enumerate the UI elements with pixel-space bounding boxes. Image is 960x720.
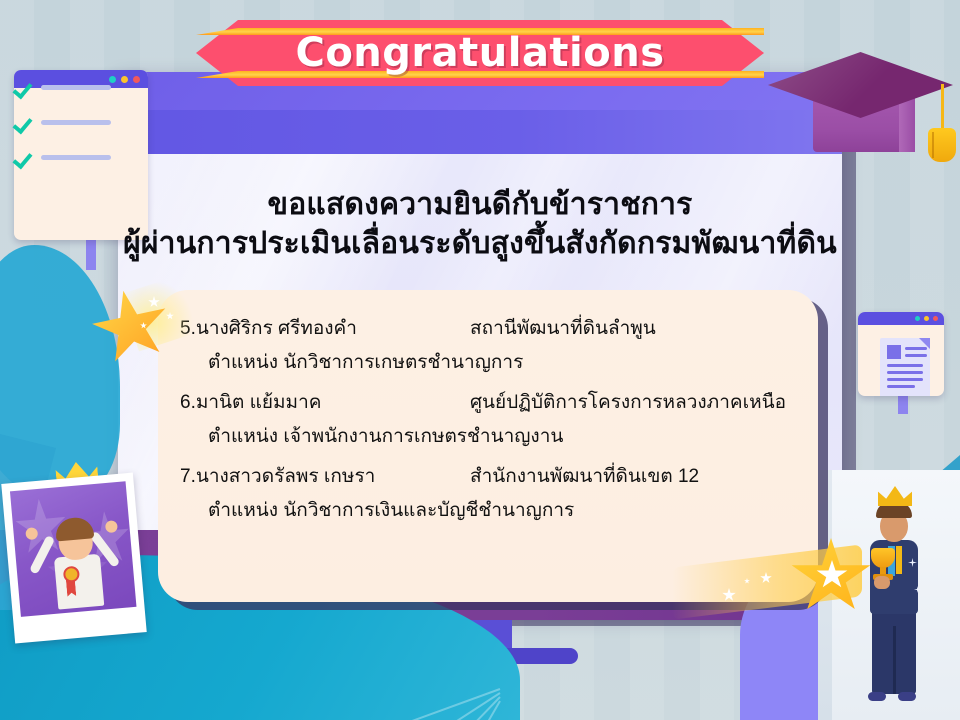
woman-leg-split	[893, 626, 896, 694]
list-item: 5.นางศิริกร ศรีทองคำ สถานีพัฒนาที่ดินลำพ…	[158, 312, 818, 380]
screen-top-band	[118, 110, 842, 154]
entry-person-name: นางสาวดรัลพร เกษรา	[196, 466, 375, 487]
entry-organization: สถานีพัฒนาที่ดินลำพูน	[470, 312, 656, 346]
window-dot-red	[933, 316, 938, 321]
entry-main-row: 7.นางสาวดรัลพร เกษรา สำนักงานพัฒนาที่ดิน…	[158, 460, 818, 494]
entry-name: 6.มานิต แย้มมาค	[180, 386, 470, 420]
headline-line-2: ผู้ผ่านการประเมินเลื่อนระดับสูงขึ้นสังกั…	[118, 224, 842, 264]
checklist-row	[14, 78, 148, 96]
cap-tassel-string	[941, 84, 944, 132]
window-titlebar	[858, 312, 944, 325]
placeholder-line	[41, 120, 111, 125]
cap-board-sheen	[768, 52, 953, 118]
checklist-row	[14, 113, 148, 131]
document-icon	[880, 338, 930, 396]
trophy-cup	[871, 548, 895, 568]
headline-line-1: ขอแสดงความยินดีกับข้าราชการ	[118, 186, 842, 224]
cap-tassel	[928, 128, 956, 162]
entry-number: 7.	[180, 466, 196, 487]
placeholder-line	[41, 155, 111, 160]
document-window-icon	[858, 312, 944, 396]
list-item: 6.มานิต แย้มมาค ศูนย์ปฏิบัติการโครงการหล…	[158, 386, 818, 454]
entry-position: ตำแหน่ง นักวิชาการเกษตรชำนาญการ	[158, 346, 818, 380]
check-icon	[14, 148, 32, 166]
list-item: 7.นางสาวดรัลพร เกษรา สำนักงานพัฒนาที่ดิน…	[158, 460, 818, 528]
polaroid-celebration-photo	[1, 473, 146, 644]
entry-position: ตำแหน่ง นักวิชาการเงินและบัญชีชำนาญการ	[158, 494, 818, 528]
woman-with-trophy-illustration	[846, 486, 942, 714]
page-thumb	[887, 345, 901, 359]
window-dot-teal	[915, 316, 920, 321]
slide-canvas: Congratulations	[0, 0, 960, 720]
woman-hand	[874, 576, 890, 589]
entry-organization: ศูนย์ปฏิบัติการโครงการหลวงภาคเหนือ	[470, 386, 786, 420]
entry-organization: สำนักงานพัฒนาที่ดินเขต 12	[470, 460, 699, 494]
boy-shirt	[54, 554, 104, 610]
woman-shoe-left	[868, 692, 886, 701]
entry-position: ตำแหน่ง เจ้าพนักงานการเกษตรชำนาญงาน	[158, 420, 818, 454]
content-card: 5.นางศิริกร ศรีทองคำ สถานีพัฒนาที่ดินลำพ…	[158, 290, 818, 602]
polaroid-photo-area	[10, 481, 137, 617]
checklist-row	[14, 148, 148, 166]
entry-main-row: 5.นางศิริกร ศรีทองคำ สถานีพัฒนาที่ดินลำพ…	[158, 312, 818, 346]
entry-number: 6.	[180, 392, 196, 413]
headline-block: ขอแสดงความยินดีกับข้าราชการ ผู้ผ่านการปร…	[118, 186, 842, 264]
banner-title: Congratulations	[196, 20, 764, 86]
entry-name: 5.นางศิริกร ศรีทองคำ	[180, 312, 470, 346]
entry-person-name: มานิต แย้มมาค	[196, 392, 322, 413]
entry-main-row: 6.มานิต แย้มมาค ศูนย์ปฏิบัติการโครงการหล…	[158, 386, 818, 420]
crown-icon	[878, 486, 912, 506]
entry-name: 7.นางสาวดรัลพร เกษรา	[180, 460, 470, 494]
check-icon	[14, 78, 32, 96]
woman-shoe-right	[898, 692, 916, 701]
graduation-cap-icon	[768, 52, 953, 182]
entry-person-name: นางศิริกร ศรีทองคำ	[196, 318, 357, 339]
placeholder-line	[41, 85, 111, 90]
window-dot-yellow	[924, 316, 929, 321]
check-icon	[14, 113, 32, 131]
